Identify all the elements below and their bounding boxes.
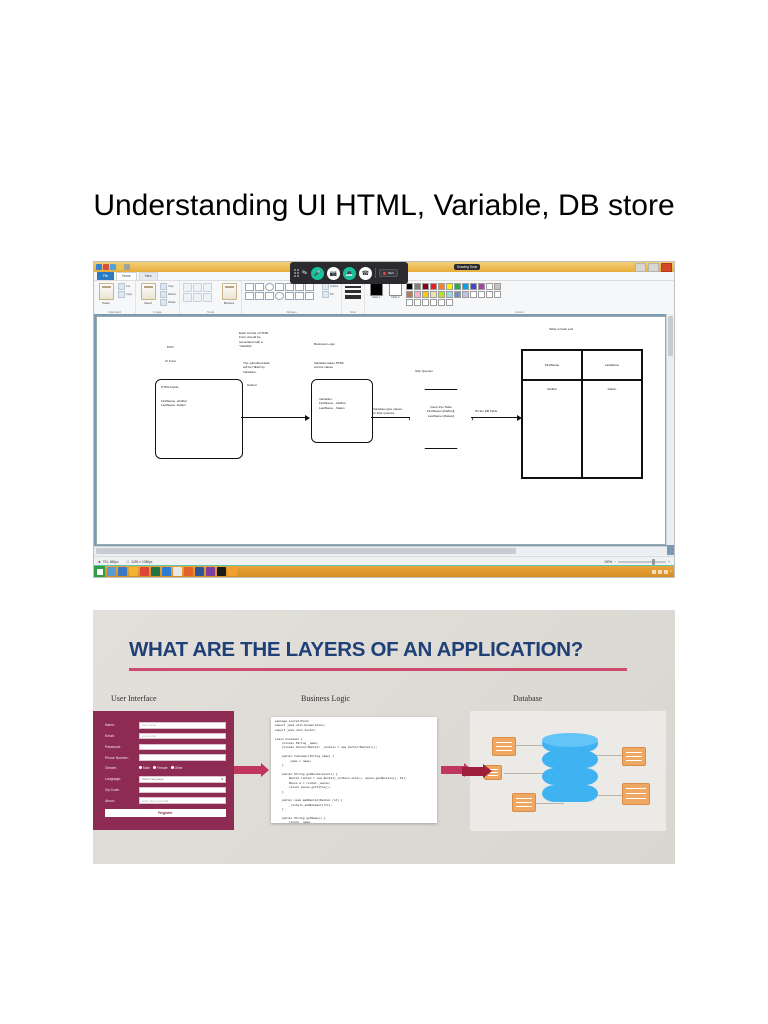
outline-icon bbox=[322, 283, 329, 290]
crop-icon bbox=[160, 283, 167, 290]
register-button[interactable]: Register bbox=[105, 809, 226, 817]
canvas-vertical-scrollbar[interactable] bbox=[666, 314, 674, 545]
taskbar-icon-paint[interactable] bbox=[162, 567, 171, 576]
color-picker-icon[interactable] bbox=[193, 293, 202, 302]
radio-icon-other bbox=[171, 766, 174, 769]
title-underline bbox=[129, 668, 627, 671]
swatch-purple[interactable] bbox=[478, 283, 485, 290]
color-2-button[interactable]: Color 2 bbox=[387, 283, 403, 300]
image-size-indicator: ☐ 2490 × 1080px bbox=[122, 560, 156, 564]
select-button[interactable]: Select bbox=[139, 283, 157, 305]
diagram-note-variables: Variables takes HTML control values bbox=[314, 361, 344, 370]
diagram-note-hit-db: Hit the DB Table bbox=[475, 409, 497, 413]
db-band-2 bbox=[542, 751, 598, 768]
diamond-shape-icon[interactable] bbox=[305, 283, 314, 291]
flow-diagram: MVC UI Form HTML Fields FirstName -Abdhu… bbox=[97, 317, 665, 544]
arrow-shape-icon[interactable] bbox=[265, 292, 274, 300]
curve-shape-icon[interactable] bbox=[255, 283, 264, 291]
column-label-user-interface: User Interface bbox=[111, 694, 157, 703]
ribbon-group-image: Select Crop Resize Rotate bbox=[136, 281, 180, 315]
microphone-button[interactable]: 🎤 bbox=[311, 267, 324, 280]
zoom-slider[interactable] bbox=[618, 561, 666, 563]
gender-option-male[interactable]: Male bbox=[139, 766, 150, 770]
cut-button[interactable]: Cut bbox=[118, 283, 132, 290]
windows-taskbar[interactable]: ⏲ bbox=[94, 565, 674, 577]
database-table: FirstName LastName Abdhul Kalam bbox=[521, 349, 643, 479]
swatch-green[interactable] bbox=[454, 283, 461, 290]
db-band-4 bbox=[542, 785, 598, 802]
name-input[interactable]: your name bbox=[139, 722, 226, 729]
taskbar-icon-recorder[interactable] bbox=[228, 567, 237, 576]
swatch-custom-8[interactable] bbox=[430, 299, 437, 306]
table-header-lastname: LastName bbox=[582, 350, 642, 380]
swatch-black[interactable] bbox=[406, 283, 413, 290]
swatch-darkred[interactable] bbox=[422, 283, 429, 290]
form-row-about: About: write about yourself bbox=[105, 796, 226, 805]
chevron-down-icon: ▾ bbox=[221, 777, 223, 781]
line-shape-icon[interactable] bbox=[245, 283, 254, 291]
size-8-icon[interactable] bbox=[345, 295, 361, 299]
size-5-icon[interactable] bbox=[345, 290, 361, 293]
swatch-custom-7[interactable] bbox=[422, 299, 429, 306]
text-icon[interactable] bbox=[203, 283, 212, 292]
label-password: Password: bbox=[105, 745, 139, 749]
swatch-cream[interactable] bbox=[430, 291, 437, 298]
camera-icon: 📷 bbox=[330, 270, 337, 277]
swatch-pink[interactable] bbox=[414, 291, 421, 298]
diagram-label-ui-form: UI Form bbox=[165, 359, 176, 363]
rotate-icon bbox=[160, 299, 167, 306]
taskbar-icon-onenote[interactable] bbox=[206, 567, 215, 576]
diagram-label-html-fields: HTML Fields bbox=[161, 385, 178, 389]
rotate-button[interactable]: Rotate bbox=[160, 299, 176, 306]
swatch-skyblue[interactable] bbox=[446, 291, 453, 298]
swatch-steelblue[interactable] bbox=[454, 291, 461, 298]
size-picker[interactable] bbox=[345, 283, 361, 299]
paste-button[interactable]: Paste bbox=[97, 283, 115, 305]
ribbon-group-clipboard: Paste Cut Copy Clipboard bbox=[94, 281, 136, 315]
label-phone-number: Phone Number: bbox=[105, 756, 139, 760]
tray-clock[interactable]: ⏲ bbox=[670, 570, 672, 573]
crop-button[interactable]: Crop bbox=[160, 283, 176, 290]
size-3-icon[interactable] bbox=[345, 286, 361, 288]
scissors-icon bbox=[118, 283, 125, 290]
form-row-password: Password: bbox=[105, 743, 226, 752]
fill-icon bbox=[322, 291, 329, 298]
image-small-buttons[interactable]: Crop Resize Rotate bbox=[160, 283, 176, 306]
taskbar-icon-edge[interactable] bbox=[107, 567, 116, 576]
label-gender: Gender: bbox=[105, 766, 139, 770]
magnifier-icon[interactable] bbox=[203, 293, 212, 302]
java-code-block: package installform; import java.util.En… bbox=[275, 720, 433, 823]
diagram-note-held: The submitted data will be HELD by Varia… bbox=[243, 361, 269, 374]
system-tray[interactable]: ⏲ bbox=[652, 570, 674, 574]
record-dot-icon bbox=[383, 272, 386, 275]
taskbar-icon-excel[interactable] bbox=[151, 567, 160, 576]
heart-shape-icon[interactable] bbox=[305, 292, 314, 300]
phone-number-input[interactable] bbox=[139, 754, 226, 761]
quick-access-toolbar[interactable] bbox=[96, 264, 130, 270]
db-top-ellipse bbox=[542, 733, 598, 747]
shape-grid[interactable] bbox=[245, 283, 319, 300]
swatch-blue[interactable] bbox=[470, 283, 477, 290]
tray-network-icon[interactable] bbox=[652, 570, 656, 574]
table-cell-firstname: Abdhul bbox=[522, 380, 582, 478]
microphone-icon: 🎤 bbox=[314, 270, 321, 277]
swatch-orange[interactable] bbox=[438, 283, 445, 290]
ribbon-group-colors: Color 1 Color 2 bbox=[365, 281, 674, 315]
color-1-button[interactable]: Color 1 bbox=[368, 283, 384, 300]
business-logic-code-panel: package installform; import java.util.En… bbox=[271, 717, 437, 823]
resize-button[interactable]: Resize bbox=[160, 291, 176, 298]
canvas-horizontal-scrollbar[interactable] bbox=[94, 546, 667, 555]
ribbon-group-shapes: Outline Fill Shapes bbox=[242, 281, 342, 315]
email-input[interactable]: your email bbox=[139, 733, 226, 740]
zoom-out-button[interactable]: − bbox=[614, 560, 616, 564]
end-call-button[interactable]: ☎ bbox=[359, 267, 372, 280]
brushes-icon bbox=[222, 283, 237, 300]
diagram-label-mvc: MVC bbox=[167, 345, 174, 349]
minimize-button[interactable] bbox=[635, 263, 646, 272]
table-cell-lastname: Kalam bbox=[582, 380, 642, 478]
drag-handle-icon[interactable] bbox=[294, 269, 299, 277]
zoom-control[interactable]: 100% − + bbox=[604, 560, 674, 564]
variables-box bbox=[311, 379, 373, 443]
radio-icon-male bbox=[139, 766, 142, 769]
database-cylinder-icon bbox=[542, 733, 598, 807]
registration-form[interactable]: Name: your name Email: your email Passwo… bbox=[105, 721, 226, 817]
database-layer-panel bbox=[470, 711, 666, 831]
swatch-brown[interactable] bbox=[406, 291, 413, 298]
cursor-position-indicator: ✚ 791, 655px bbox=[94, 560, 122, 564]
triangle-shape-icon[interactable] bbox=[295, 283, 304, 291]
swatch-red[interactable] bbox=[430, 283, 437, 290]
paint-ribbon[interactable]: Paste Cut Copy Clipboard bbox=[94, 281, 674, 316]
diagram-note-variables-give: Variables give values to SQL Queries bbox=[373, 407, 402, 416]
record-icon-1 bbox=[492, 737, 516, 756]
close-button[interactable] bbox=[661, 263, 672, 272]
diagram-label-form-values: FirstName -Abdhul LastName -Kalam bbox=[161, 399, 187, 408]
paint-canvas-area[interactable]: MVC UI Form HTML Fields FirstName -Abdhu… bbox=[94, 314, 674, 555]
toolbar-divider bbox=[375, 268, 376, 278]
column-label-database: Database bbox=[513, 694, 542, 703]
gender-option-other[interactable]: Other bbox=[171, 766, 183, 770]
form-row-gender: Gender: Male Female Other bbox=[105, 764, 226, 773]
arrow-ui-to-logic-line bbox=[241, 417, 307, 418]
eraser-icon[interactable] bbox=[183, 293, 192, 302]
tray-volume-icon[interactable] bbox=[658, 570, 662, 574]
phone-icon: ☎ bbox=[362, 270, 369, 277]
horizontal-scroll-thumb[interactable] bbox=[96, 548, 516, 554]
column-label-business-logic: Business Logic bbox=[301, 694, 350, 703]
taskbar-icon-explorer[interactable] bbox=[118, 567, 127, 576]
start-button[interactable] bbox=[94, 566, 105, 577]
form-row-zip: Zip Code: bbox=[105, 786, 226, 795]
pen-icon[interactable]: ✎ bbox=[301, 268, 309, 278]
db-band-3 bbox=[542, 768, 598, 785]
form-row-name: Name: your name bbox=[105, 721, 226, 730]
cursor-position-icon: ✚ bbox=[98, 560, 101, 564]
screen-share-button[interactable]: 💻 bbox=[343, 267, 356, 280]
image-size-icon: ☐ bbox=[126, 560, 129, 564]
swatch-custom-2[interactable] bbox=[478, 291, 485, 298]
about-textarea[interactable]: write about yourself bbox=[139, 797, 226, 804]
brushes-button[interactable]: Brushes bbox=[220, 283, 238, 305]
resize-icon bbox=[160, 291, 167, 298]
oval-shape-icon[interactable] bbox=[265, 283, 274, 291]
outline-button[interactable]: Outline bbox=[322, 283, 338, 290]
arrow-into-database bbox=[462, 767, 484, 776]
ui-form-box bbox=[155, 379, 243, 459]
diagram-label-sql-queries: SQL Queries bbox=[415, 369, 433, 373]
record-icon-4 bbox=[622, 747, 646, 766]
save-icon[interactable] bbox=[96, 264, 102, 270]
color-1-swatch[interactable] bbox=[370, 283, 383, 296]
sql-query-hexagon bbox=[409, 389, 473, 449]
hexagon-shape-icon[interactable] bbox=[255, 292, 264, 300]
taskbar-icon-word[interactable] bbox=[195, 567, 204, 576]
callout-shape-icon[interactable] bbox=[275, 292, 284, 300]
label-language: Language: bbox=[105, 777, 139, 781]
taskbar-icon-notepad[interactable] bbox=[173, 567, 182, 576]
pentagon-shape-icon[interactable] bbox=[245, 292, 254, 300]
form-row-phone: Phone Number: bbox=[105, 753, 226, 762]
webcam-button[interactable]: 📷 bbox=[327, 267, 340, 280]
form-row-language: Language: Select language ▾ bbox=[105, 775, 226, 784]
tool-grid[interactable] bbox=[183, 283, 217, 302]
record-icon-3 bbox=[512, 793, 536, 812]
zip-code-input[interactable] bbox=[139, 787, 226, 794]
color-palette[interactable] bbox=[406, 283, 506, 306]
swatch-gold[interactable] bbox=[422, 291, 429, 298]
radio-icon-female bbox=[153, 766, 156, 769]
undo-icon[interactable] bbox=[110, 264, 116, 270]
swatch-cyan[interactable] bbox=[462, 283, 469, 290]
rectangle-shape-icon[interactable] bbox=[275, 283, 284, 291]
swatch-custom-6[interactable] bbox=[414, 299, 421, 306]
label-zip-code: Zip Code: bbox=[105, 788, 139, 792]
diagram-label-business-logic: Business Logic bbox=[314, 342, 335, 346]
rounded-rect-shape-icon[interactable] bbox=[285, 283, 294, 291]
language-select[interactable]: Select language ▾ bbox=[139, 776, 226, 783]
arrow-sql-to-table-line bbox=[471, 417, 519, 418]
vertical-scroll-thumb[interactable] bbox=[668, 316, 673, 356]
slide-title: WHAT ARE THE LAYERS OF AN APPLICATION? bbox=[129, 638, 583, 662]
record-icon-5 bbox=[622, 783, 650, 805]
select-icon bbox=[141, 283, 156, 300]
color-2-swatch[interactable] bbox=[389, 283, 402, 296]
windows-logo-icon bbox=[97, 569, 103, 575]
shape-style-buttons[interactable]: Outline Fill bbox=[322, 283, 338, 298]
tab-home[interactable]: Home bbox=[116, 272, 137, 280]
fill-button[interactable]: Fill bbox=[322, 291, 338, 298]
swatch-custom-10[interactable] bbox=[446, 299, 453, 306]
swatch-lavender[interactable] bbox=[462, 291, 469, 298]
table-header-firstname: FirstName bbox=[522, 350, 582, 380]
star-shape-icon[interactable] bbox=[285, 292, 294, 300]
record-button[interactable]: REC bbox=[379, 269, 398, 277]
pencil-icon[interactable] bbox=[183, 283, 192, 292]
swatch-custom-3[interactable] bbox=[486, 291, 493, 298]
ribbon-group-size: Size bbox=[342, 281, 365, 315]
swatch-custom-1[interactable] bbox=[470, 291, 477, 298]
monitor-icon: 💻 bbox=[346, 270, 353, 277]
contextual-tab-label: Drawing Tools bbox=[454, 264, 480, 270]
customize-qat-icon[interactable] bbox=[124, 264, 130, 270]
zoom-level-label: 100% bbox=[604, 560, 612, 564]
page-title: Understanding UI HTML, Variable, DB stor… bbox=[0, 186, 768, 226]
taskbar-icon-firefox[interactable] bbox=[184, 567, 193, 576]
swatch-grey[interactable] bbox=[414, 283, 421, 290]
zoom-in-button[interactable]: + bbox=[668, 560, 670, 564]
swatch-lightgrey[interactable] bbox=[494, 283, 501, 290]
paint-app-icon bbox=[103, 264, 109, 270]
paste-icon bbox=[99, 283, 114, 300]
screen-recorder-toolbar[interactable]: ✎ 🎤 📷 💻 ☎ REC Drawing Tools bbox=[290, 262, 408, 284]
swatch-custom-4[interactable] bbox=[494, 291, 501, 298]
lightning-shape-icon[interactable] bbox=[295, 292, 304, 300]
diagram-label-submit: Submit bbox=[247, 383, 257, 387]
tab-view[interactable]: View bbox=[139, 272, 158, 280]
diagram-label-insert-query: Insert into Table FirstName=[Abdhul], La… bbox=[419, 405, 463, 418]
ribbon-group-tools: Brushes Tools bbox=[180, 281, 242, 315]
label-about: About: bbox=[105, 799, 139, 803]
paint-window-screenshot: File Home View Paste Cut Copy bbox=[93, 261, 675, 578]
swatch-custom-5[interactable] bbox=[406, 299, 413, 306]
arrow-ui-to-logic-head bbox=[305, 415, 310, 421]
diagram-label-table-caption: Table in back end bbox=[549, 327, 573, 331]
tab-file[interactable]: File bbox=[97, 272, 114, 280]
tray-battery-icon[interactable] bbox=[664, 570, 668, 574]
taskbar-icon-chrome[interactable] bbox=[140, 567, 149, 576]
swatch-yellow[interactable] bbox=[446, 283, 453, 290]
diagram-label-variables-box: Variables: FirstName - Abdhul LastName -… bbox=[319, 397, 345, 410]
ui-layer-panel: Name: your name Email: your email Passwo… bbox=[93, 711, 234, 830]
password-input[interactable] bbox=[139, 744, 226, 751]
layers-slide-image: WHAT ARE THE LAYERS OF AN APPLICATION? U… bbox=[93, 610, 675, 864]
gender-option-female[interactable]: Female bbox=[153, 766, 168, 770]
swatch-white[interactable] bbox=[486, 283, 493, 290]
redo-icon[interactable] bbox=[117, 264, 123, 270]
arrow-ui-to-business bbox=[234, 766, 262, 774]
swatch-lime[interactable] bbox=[438, 291, 445, 298]
label-name: Name: bbox=[105, 723, 139, 727]
clipboard-small-buttons[interactable]: Cut Copy bbox=[118, 283, 132, 298]
maximize-button[interactable] bbox=[648, 263, 659, 272]
gender-radio-group[interactable]: Male Female Other bbox=[139, 766, 226, 770]
arrow-logic-to-sql-line bbox=[371, 417, 413, 418]
swatch-custom-9[interactable] bbox=[438, 299, 445, 306]
taskbar-icon-folder[interactable] bbox=[129, 567, 138, 576]
fill-bucket-icon[interactable] bbox=[193, 283, 202, 292]
form-row-email: Email: your email bbox=[105, 732, 226, 741]
copy-button[interactable]: Copy bbox=[118, 291, 132, 298]
paint-canvas[interactable]: MVC UI Form HTML Fields FirstName -Abdhu… bbox=[96, 316, 666, 545]
label-email: Email: bbox=[105, 734, 139, 738]
diagram-note-controls: Each control of HTML Form should be asso… bbox=[239, 331, 269, 349]
taskbar-icon-terminal[interactable] bbox=[217, 567, 226, 576]
copy-icon bbox=[118, 291, 125, 298]
window-controls[interactable] bbox=[635, 263, 672, 272]
zoom-slider-thumb[interactable] bbox=[652, 559, 655, 565]
